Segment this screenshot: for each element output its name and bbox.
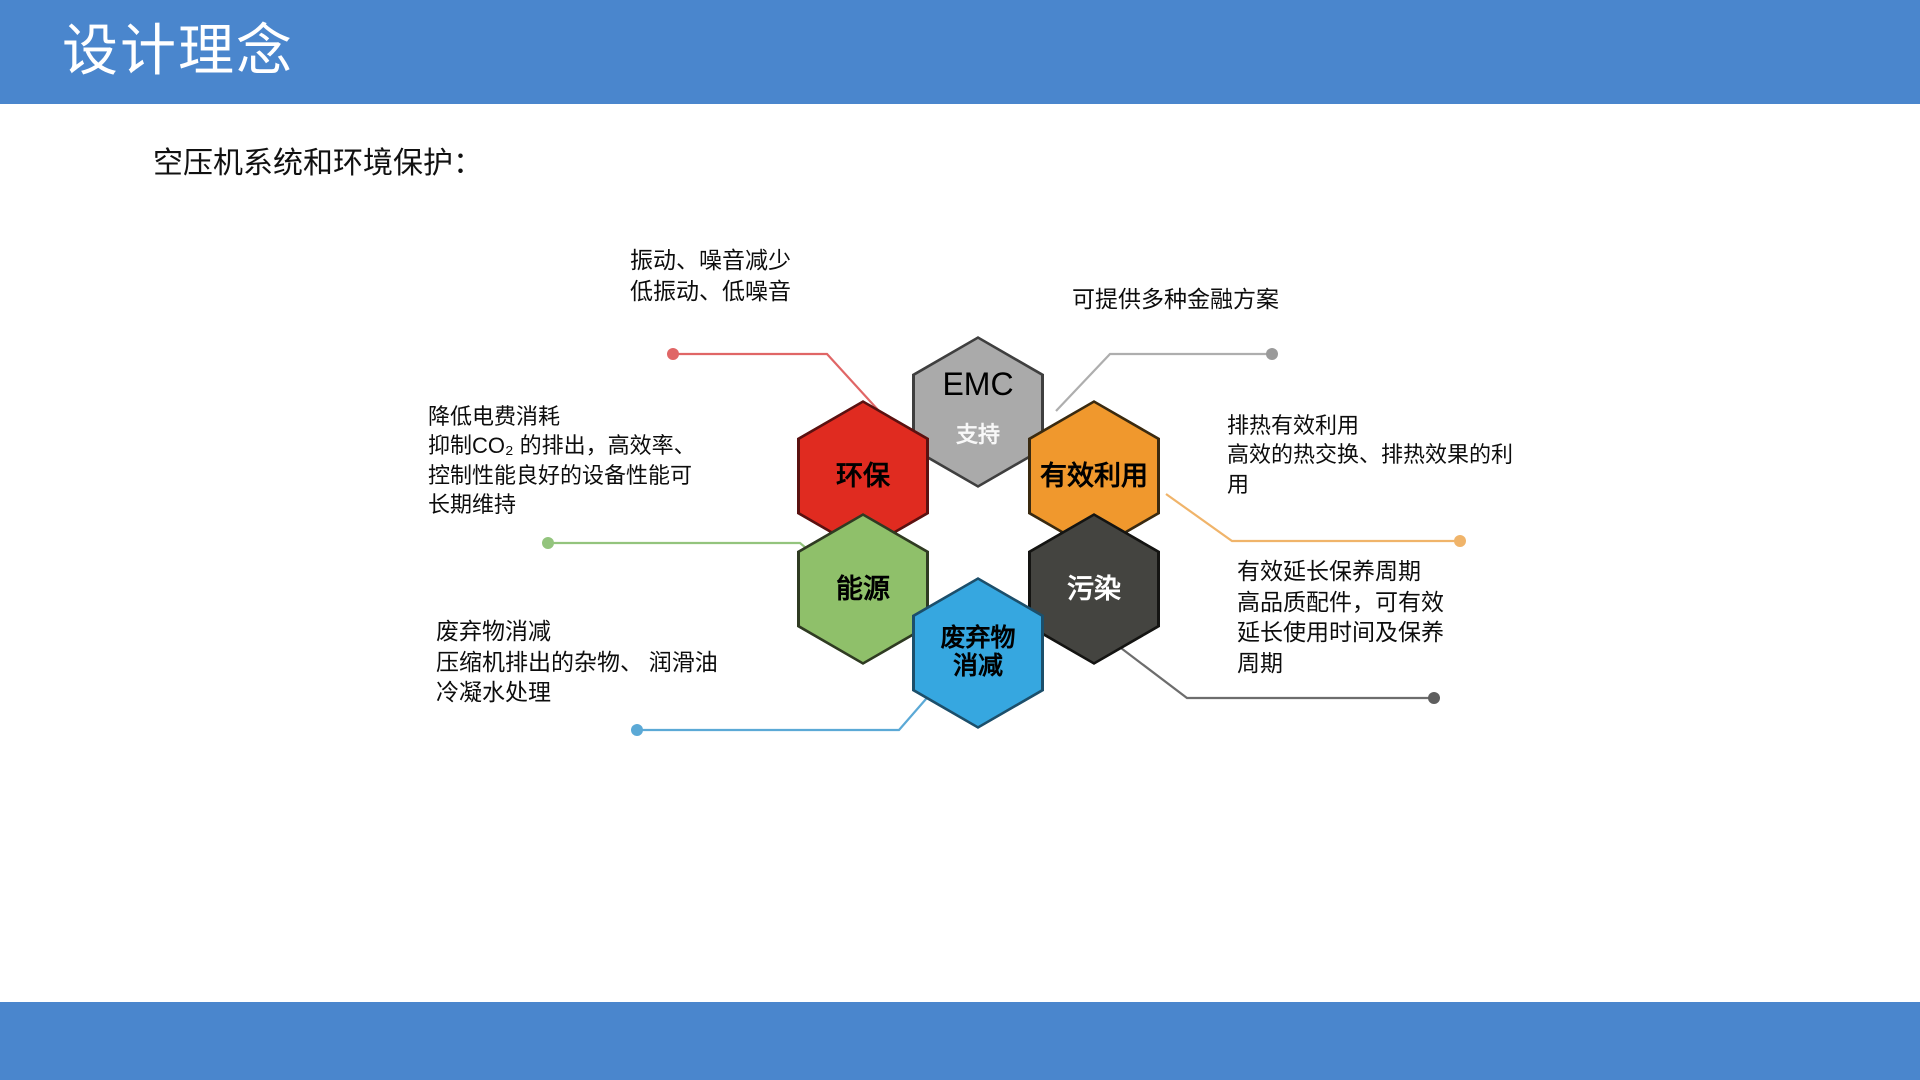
slide-subtitle: 空压机系统和环境保护： (153, 138, 483, 182)
hexagon-feiqiwu-fill: 废弃物 消减 (915, 580, 1041, 726)
connector-heat (1166, 494, 1466, 547)
callout-electricity: 降低电费消耗 抑制CO₂ 的排出，高效率、 控制性能良好的设备性能可 长期维持 (428, 402, 696, 519)
hexagon-nengyuan-fill: 能源 (800, 516, 926, 662)
hexagon-feiqiwu[interactable]: 废弃物 消减 (912, 577, 1044, 729)
callout-vibration: 振动、噪音减少 低振动、低噪音 (630, 246, 791, 307)
slide-root: 设计理念 空压机系统和环境保护： (0, 0, 1920, 1080)
connector-vibration (667, 348, 879, 411)
connector-dot-heat (1454, 535, 1466, 547)
callout-heat-reuse: 排热有效利用 高效的热交换、排热效果的利 用 (1227, 411, 1513, 499)
hexagon-emc-sublabel: 支持 (915, 417, 1041, 449)
connector-finance (1056, 348, 1278, 411)
hexagon-emc[interactable]: EMC 支持 (912, 336, 1044, 488)
hexagon-emc-fill: EMC 支持 (915, 339, 1041, 485)
hexagon-feiqiwu-label: 废弃物 消减 (940, 625, 1015, 681)
hexagon-wuran-label: 污染 (1067, 574, 1121, 604)
connector-dot-finance (1266, 348, 1278, 360)
hexagon-wuran[interactable]: 污染 (1028, 513, 1160, 665)
callout-finance: 可提供多种金融方案 (1072, 285, 1279, 316)
hexagon-nengyuan[interactable]: 能源 (797, 513, 929, 665)
connector-dot-vibration (667, 348, 679, 360)
callout-maintenance: 有效延长保养周期 高品质配件，可有效 延长使用时间及保养 周期 (1237, 557, 1444, 679)
hexagon-wuran-fill: 污染 (1031, 516, 1157, 662)
hexagon-huanbao-label: 环保 (836, 461, 890, 491)
connector-dot-maintenance (1428, 692, 1440, 704)
connector-dot-electricity (542, 537, 554, 549)
connector-dot-waste (631, 724, 643, 736)
callout-waste: 废弃物消减 压缩机排出的杂物、 润滑油 冷凝水处理 (436, 617, 718, 709)
page-title: 设计理念 (62, 12, 294, 92)
hexagon-youxiaoliyong-label: 有效利用 (1040, 461, 1148, 491)
hexagon-nengyuan-label: 能源 (836, 574, 890, 604)
header-underline (0, 104, 1920, 109)
footer-band (0, 1002, 1920, 1080)
hexagon-emc-label: EMC (915, 367, 1041, 403)
